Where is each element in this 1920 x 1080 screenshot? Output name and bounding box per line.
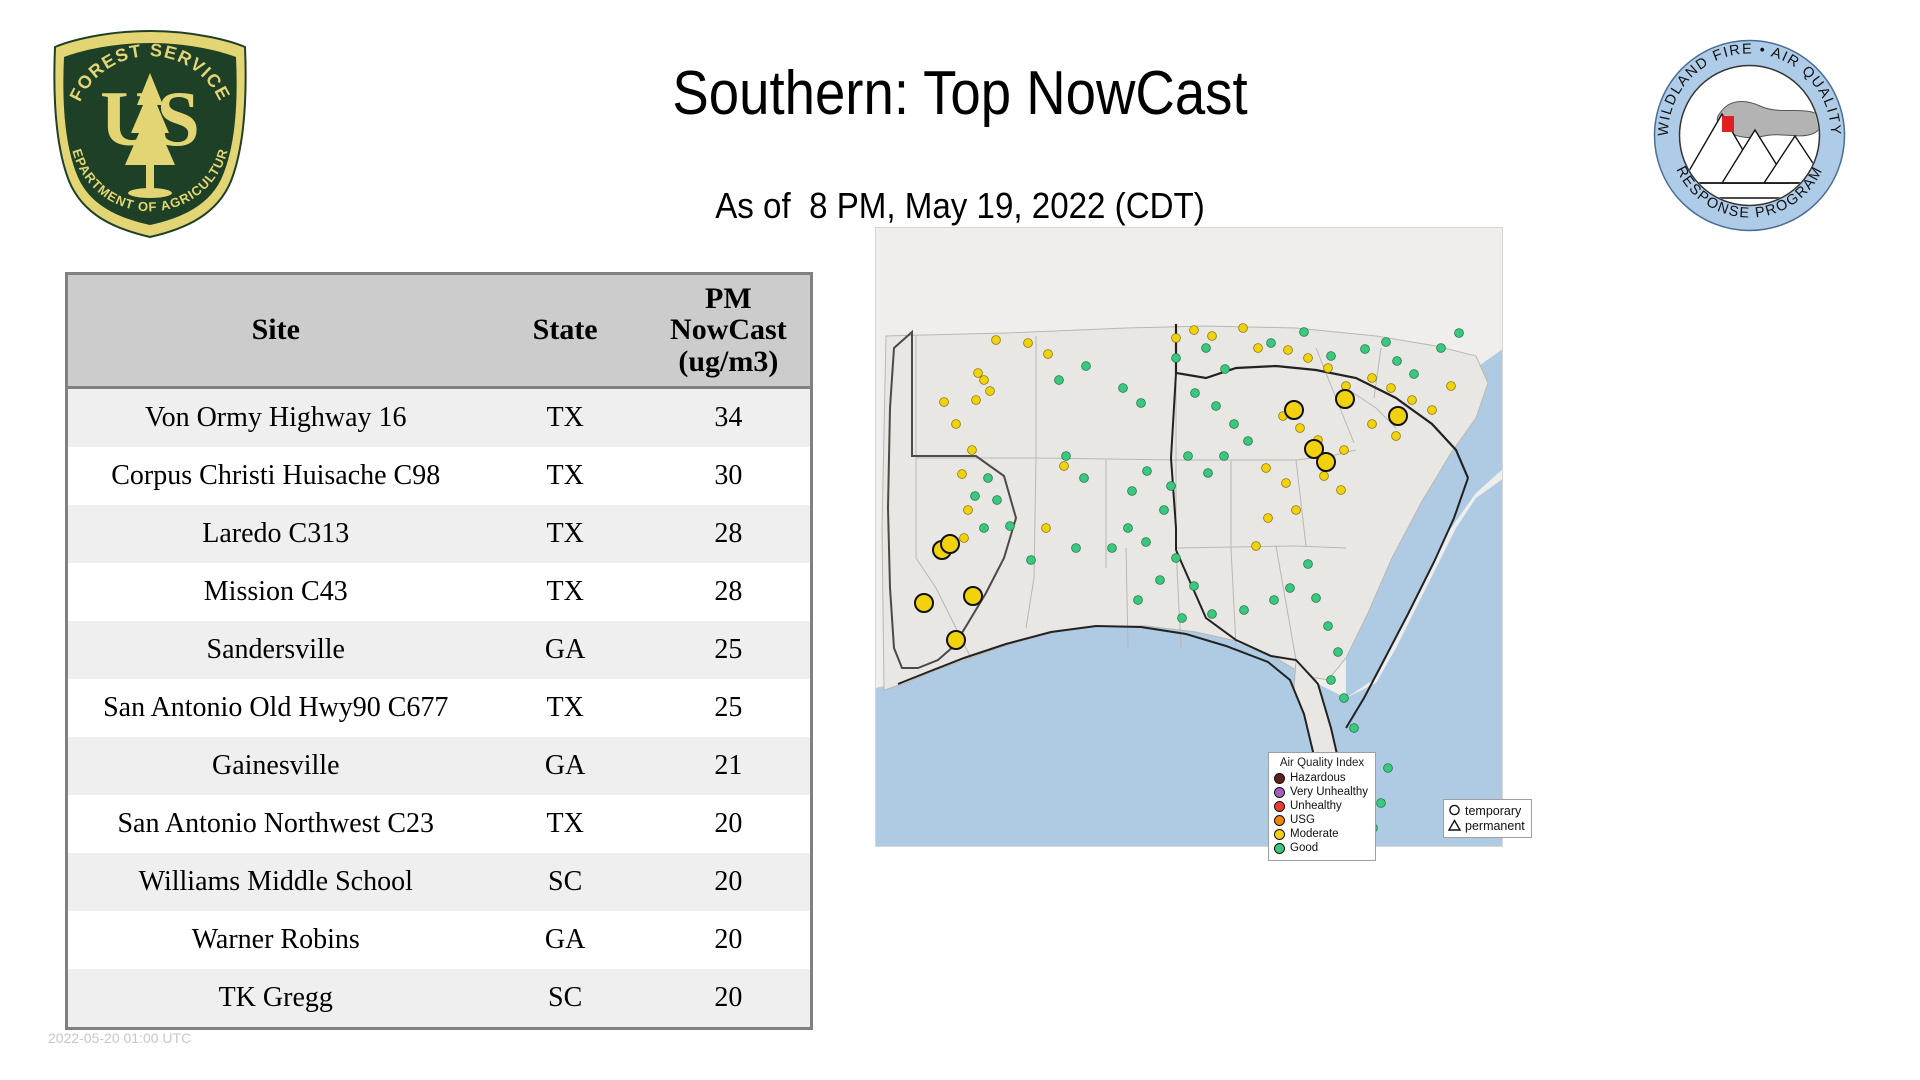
cell-site: San Antonio Old Hwy90 C677 bbox=[68, 679, 484, 737]
nowcast-table-container: Site State PM NowCast (ug/m3) Von Ormy H… bbox=[65, 272, 813, 1030]
table-row: GainesvilleGA21 bbox=[68, 737, 810, 795]
cell-state: TX bbox=[484, 563, 647, 621]
cell-pm-nowcast: 25 bbox=[647, 621, 810, 679]
cell-pm-nowcast: 20 bbox=[647, 795, 810, 853]
column-header-site: Site bbox=[68, 275, 484, 387]
aqi-legend-item: Moderate bbox=[1274, 827, 1370, 841]
table-row: Mission C43TX28 bbox=[68, 563, 810, 621]
cell-pm-nowcast: 30 bbox=[647, 447, 810, 505]
southeast-us-aqi-map[interactable] bbox=[875, 227, 1503, 847]
cell-pm-nowcast: 20 bbox=[647, 911, 810, 969]
cell-pm-nowcast: 34 bbox=[647, 387, 810, 447]
aqi-legend-swatch bbox=[1274, 815, 1285, 826]
cell-state: TX bbox=[484, 679, 647, 737]
cell-state: GA bbox=[484, 621, 647, 679]
cell-site: Warner Robins bbox=[68, 911, 484, 969]
cell-state: GA bbox=[484, 911, 647, 969]
cell-state: TX bbox=[484, 387, 647, 447]
nowcast-table: Site State PM NowCast (ug/m3) Von Ormy H… bbox=[68, 275, 810, 1027]
table-body: Von Ormy Highway 16TX34Corpus Christi Hu… bbox=[68, 387, 810, 1027]
column-header-line-3: (ug/m3) bbox=[651, 346, 806, 378]
page-title: Southern: Top NowCast bbox=[115, 58, 1805, 129]
table-row: TK GreggSC20 bbox=[68, 969, 810, 1027]
map-graphic bbox=[876, 228, 1503, 847]
aqi-legend-label: Unhealthy bbox=[1290, 800, 1342, 812]
aqi-legend-swatch bbox=[1274, 773, 1285, 784]
column-header-line-2: NowCast bbox=[651, 314, 806, 346]
aqi-legend-label: Good bbox=[1290, 842, 1318, 854]
aqi-legend-item: Very Unhealthy bbox=[1274, 785, 1370, 799]
aqi-legend-item: Unhealthy bbox=[1274, 799, 1370, 813]
cell-site: Sandersville bbox=[68, 621, 484, 679]
cell-site: Mission C43 bbox=[68, 563, 484, 621]
cell-site: TK Gregg bbox=[68, 969, 484, 1027]
table-row: Corpus Christi Huisache C98TX30 bbox=[68, 447, 810, 505]
aqi-legend-rows: HazardousVery UnhealthyUnhealthyUSGModer… bbox=[1274, 771, 1370, 855]
aqi-legend-swatch bbox=[1274, 829, 1285, 840]
cell-site: Laredo C313 bbox=[68, 505, 484, 563]
cell-pm-nowcast: 20 bbox=[647, 853, 810, 911]
aqi-legend-item: Good bbox=[1274, 841, 1370, 855]
table-row: San Antonio Northwest C23TX20 bbox=[68, 795, 810, 853]
column-header-pm-nowcast: PM NowCast (ug/m3) bbox=[647, 275, 810, 387]
cell-state: TX bbox=[484, 795, 647, 853]
cell-site: Gainesville bbox=[68, 737, 484, 795]
aqi-legend-label: Moderate bbox=[1290, 828, 1339, 840]
column-header-state: State bbox=[484, 275, 647, 387]
cell-state: SC bbox=[484, 969, 647, 1027]
aqi-legend-label: Very Unhealthy bbox=[1290, 786, 1368, 798]
legend-row-temporary: temporary bbox=[1448, 803, 1525, 818]
circle-marker-icon bbox=[1448, 804, 1461, 817]
aqi-legend-title: Air Quality Index bbox=[1274, 757, 1370, 769]
legend-row-permanent: permanent bbox=[1448, 818, 1525, 833]
cell-state: SC bbox=[484, 853, 647, 911]
cell-pm-nowcast: 28 bbox=[647, 505, 810, 563]
legend-label-temporary: temporary bbox=[1465, 804, 1521, 818]
table-header: Site State PM NowCast (ug/m3) bbox=[68, 275, 810, 387]
aqi-legend-swatch bbox=[1274, 801, 1285, 812]
cell-site: Williams Middle School bbox=[68, 853, 484, 911]
aqi-legend-label: Hazardous bbox=[1290, 772, 1346, 784]
page-subtitle: As of 8 PM, May 19, 2022 (CDT) bbox=[77, 185, 1843, 227]
cell-state: GA bbox=[484, 737, 647, 795]
monitor-type-legend: temporary permanent bbox=[1443, 799, 1532, 838]
cell-state: TX bbox=[484, 505, 647, 563]
cell-site: Von Ormy Highway 16 bbox=[68, 387, 484, 447]
aqi-legend-label: USG bbox=[1290, 814, 1315, 826]
footer-timestamp: 2022-05-20 01:00 UTC bbox=[48, 1030, 191, 1046]
table-header-row: Site State PM NowCast (ug/m3) bbox=[68, 275, 810, 387]
column-header-line-1: PM bbox=[651, 283, 806, 315]
aqi-legend-item: Hazardous bbox=[1274, 771, 1370, 785]
table-row: Laredo C313TX28 bbox=[68, 505, 810, 563]
table-row: Williams Middle SchoolSC20 bbox=[68, 853, 810, 911]
aqi-legend-item: USG bbox=[1274, 813, 1370, 827]
table-row: San Antonio Old Hwy90 C677TX25 bbox=[68, 679, 810, 737]
aqi-legend-swatch bbox=[1274, 843, 1285, 854]
table-row: Warner RobinsGA20 bbox=[68, 911, 810, 969]
legend-label-permanent: permanent bbox=[1465, 819, 1525, 833]
cell-site: Corpus Christi Huisache C98 bbox=[68, 447, 484, 505]
cell-pm-nowcast: 28 bbox=[647, 563, 810, 621]
cell-site: San Antonio Northwest C23 bbox=[68, 795, 484, 853]
cell-state: TX bbox=[484, 447, 647, 505]
aqi-legend-swatch bbox=[1274, 787, 1285, 798]
table-row: SandersvilleGA25 bbox=[68, 621, 810, 679]
aqi-legend: Air Quality Index HazardousVery Unhealth… bbox=[1268, 752, 1376, 861]
cell-pm-nowcast: 20 bbox=[647, 969, 810, 1027]
cell-pm-nowcast: 21 bbox=[647, 737, 810, 795]
cell-pm-nowcast: 25 bbox=[647, 679, 810, 737]
table-row: Von Ormy Highway 16TX34 bbox=[68, 387, 810, 447]
triangle-marker-icon bbox=[1448, 819, 1461, 832]
